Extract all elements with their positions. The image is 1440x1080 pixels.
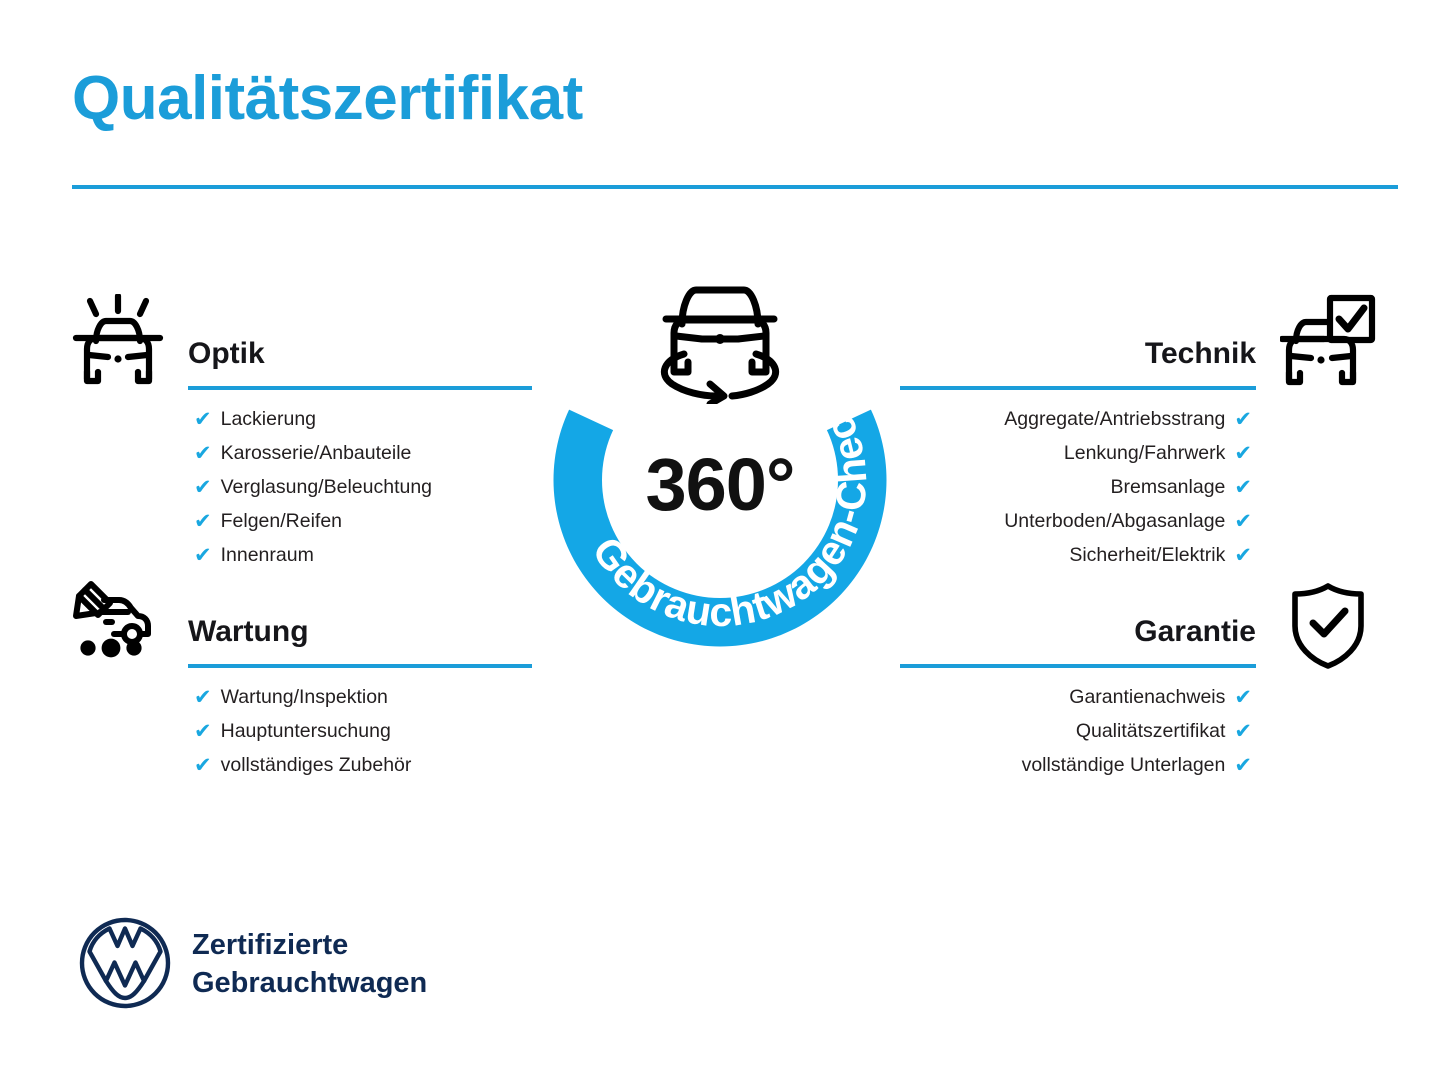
list-item-label: Lenkung/Fahrwerk xyxy=(1064,436,1226,470)
list-item-label: Garantienachweis xyxy=(1069,680,1225,714)
list-item: ✔vollständiges Zubehör xyxy=(194,748,532,782)
list-item-label: vollständige Unterlagen xyxy=(1022,748,1226,782)
list-item: ✔Wartung/Inspektion xyxy=(194,680,532,714)
check-icon: ✔ xyxy=(194,477,212,498)
list-item: Lenkung/Fahrwerk✔ xyxy=(900,436,1252,470)
check-icon: ✔ xyxy=(1234,545,1252,566)
section-wartung: Wartung ✔Wartung/Inspektion ✔Hauptunters… xyxy=(188,612,532,782)
section-optik-checklist: ✔Lackierung ✔Karosserie/Anbauteile ✔Verg… xyxy=(188,402,532,572)
section-technik-checklist: Aggregate/Antriebsstrang✔ Lenkung/Fahrwe… xyxy=(900,402,1256,572)
footer-line-2: Gebrauchtwagen xyxy=(192,964,427,1002)
section-garantie: Garantie Garantienachweis✔ Qualitätszert… xyxy=(900,612,1256,782)
list-item-label: Bremsanlage xyxy=(1110,470,1225,504)
list-item: Bremsanlage✔ xyxy=(900,470,1252,504)
check-icon: ✔ xyxy=(194,409,212,430)
section-technik: Technik Aggregate/Antriebsstrang✔ Lenkun… xyxy=(900,334,1256,572)
list-item: Aggregate/Antriebsstrang✔ xyxy=(900,402,1252,436)
list-item-label: Wartung/Inspektion xyxy=(221,680,388,714)
section-garantie-divider xyxy=(900,664,1256,668)
check-icon: ✔ xyxy=(194,511,212,532)
check-icon: ✔ xyxy=(1234,409,1252,430)
section-wartung-checklist: ✔Wartung/Inspektion ✔Hauptuntersuchung ✔… xyxy=(188,680,532,782)
check-icon: ✔ xyxy=(1234,511,1252,532)
volkswagen-logo xyxy=(78,916,172,1010)
shield-check-icon xyxy=(1288,582,1368,670)
list-item-label: Karosserie/Anbauteile xyxy=(221,436,412,470)
list-item: Garantienachweis✔ xyxy=(900,680,1252,714)
qualitaetszertifikat-page: Qualitätszertifikat xyxy=(0,0,1440,1080)
list-item: vollständige Unterlagen✔ xyxy=(900,748,1252,782)
check-icon: ✔ xyxy=(1234,443,1252,464)
section-optik: Optik ✔Lackierung ✔Karosserie/Anbauteile… xyxy=(188,334,532,572)
list-item: ✔Innenraum xyxy=(194,538,532,572)
list-item-label: Lackierung xyxy=(221,402,316,436)
list-item: ✔Lackierung xyxy=(194,402,532,436)
footer-line-1: Zertifizierte xyxy=(192,926,427,964)
page-title: Qualitätszertifikat xyxy=(72,68,583,130)
list-item: Qualitätszertifikat✔ xyxy=(900,714,1252,748)
car-rotate-icon xyxy=(638,278,802,404)
car-checkbox-icon xyxy=(1280,294,1376,390)
list-item: ✔Hauptuntersuchung xyxy=(194,714,532,748)
footer-brand-text: Zertifizierte Gebrauchtwagen xyxy=(192,926,427,1002)
check-icon: ✔ xyxy=(1234,755,1252,776)
section-optik-header: Optik xyxy=(188,334,532,390)
section-garantie-header: Garantie xyxy=(900,612,1256,668)
header-divider xyxy=(72,185,1398,189)
list-item: ✔Karosserie/Anbauteile xyxy=(194,436,532,470)
list-item-label: Verglasung/Beleuchtung xyxy=(221,470,432,504)
list-item: ✔Verglasung/Beleuchtung xyxy=(194,470,532,504)
list-item: ✔Felgen/Reifen xyxy=(194,504,532,538)
section-technik-divider xyxy=(900,386,1256,390)
section-garantie-checklist: Garantienachweis✔ Qualitätszertifikat✔ v… xyxy=(900,680,1256,782)
section-optik-divider xyxy=(188,386,532,390)
list-item-label: Sicherheit/Elektrik xyxy=(1069,538,1225,572)
section-technik-header: Technik xyxy=(900,334,1256,390)
section-wartung-title: Wartung xyxy=(188,612,532,652)
check-icon: ✔ xyxy=(1234,721,1252,742)
section-garantie-title: Garantie xyxy=(900,612,1256,652)
list-item-label: Unterboden/Abgasanlage xyxy=(1004,504,1225,538)
list-item-label: Aggregate/Antriebsstrang xyxy=(1004,402,1225,436)
check-icon: ✔ xyxy=(1234,687,1252,708)
list-item-label: Felgen/Reifen xyxy=(221,504,342,538)
list-item-label: vollständiges Zubehör xyxy=(221,748,412,782)
check-icon: ✔ xyxy=(194,687,212,708)
360-gebrauchtwagen-check-badge: Gebrauchtwagen-Check xyxy=(516,276,924,684)
section-optik-title: Optik xyxy=(188,334,532,374)
check-icon: ✔ xyxy=(194,721,212,742)
section-wartung-divider xyxy=(188,664,532,668)
list-item-label: Hauptuntersuchung xyxy=(221,714,391,748)
service-book-pencil-icon xyxy=(66,578,162,674)
car-polish-icon xyxy=(70,294,166,390)
list-item: Sicherheit/Elektrik✔ xyxy=(900,538,1252,572)
list-item-label: Qualitätszertifikat xyxy=(1076,714,1226,748)
list-item-label: Innenraum xyxy=(221,538,314,572)
section-wartung-header: Wartung xyxy=(188,612,532,668)
check-icon: ✔ xyxy=(1234,477,1252,498)
check-icon: ✔ xyxy=(194,545,212,566)
check-icon: ✔ xyxy=(194,755,212,776)
section-technik-title: Technik xyxy=(900,334,1256,374)
list-item: Unterboden/Abgasanlage✔ xyxy=(900,504,1252,538)
check-icon: ✔ xyxy=(194,443,212,464)
